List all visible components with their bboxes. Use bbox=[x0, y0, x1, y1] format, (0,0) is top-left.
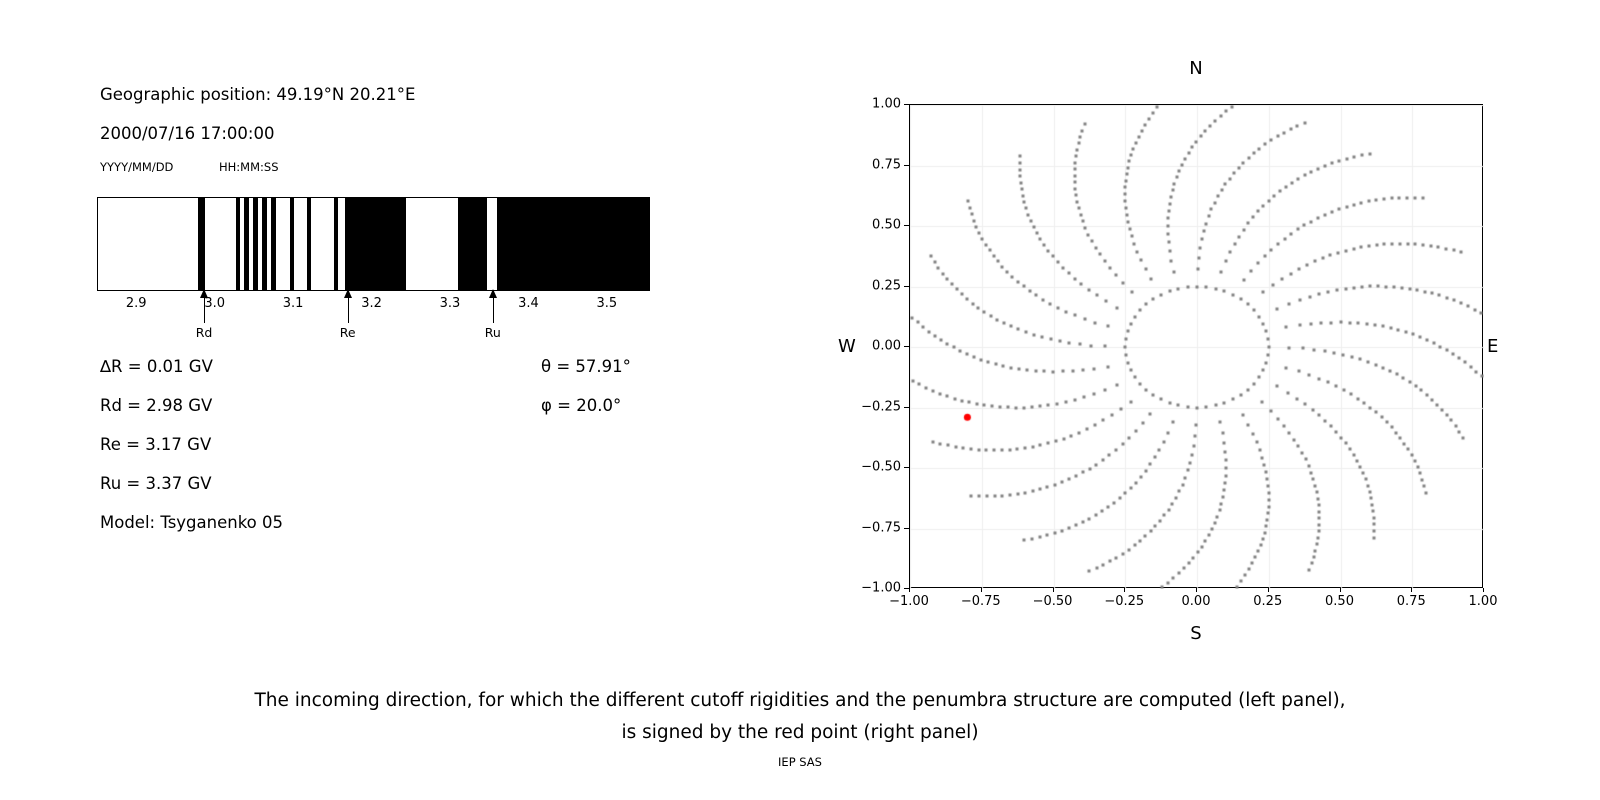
y-axis-tick-label: −0.25 bbox=[855, 399, 901, 414]
x-axis-tick-mark bbox=[909, 588, 910, 592]
compass-north-label: N bbox=[1189, 58, 1202, 79]
x-axis-tick-label: 0.50 bbox=[1325, 594, 1354, 609]
y-axis-tick-label: −0.75 bbox=[855, 520, 901, 535]
x-axis-tick-mark bbox=[1483, 588, 1484, 592]
scatter-canvas bbox=[910, 105, 1484, 589]
x-axis-tick-label: −0.75 bbox=[961, 594, 1001, 609]
y-axis-tick-mark bbox=[904, 165, 909, 166]
x-axis-tick-mark bbox=[1053, 588, 1054, 592]
y-axis-tick-label: 0.75 bbox=[855, 157, 901, 172]
x-axis-tick-label: −0.50 bbox=[1033, 594, 1073, 609]
y-axis-tick-label: 1.00 bbox=[855, 97, 901, 112]
y-axis-tick-label: 0.25 bbox=[855, 278, 901, 293]
x-axis-tick-mark bbox=[1196, 588, 1197, 592]
y-axis-tick-mark bbox=[904, 286, 909, 287]
x-axis-tick-mark bbox=[1411, 588, 1412, 592]
x-axis-tick-label: 0.00 bbox=[1182, 594, 1211, 609]
y-axis-tick-label: 0.00 bbox=[855, 339, 901, 354]
y-axis-tick-label: 0.50 bbox=[855, 218, 901, 233]
y-axis-tick-mark bbox=[904, 407, 909, 408]
x-axis-tick-label: 0.25 bbox=[1253, 594, 1282, 609]
x-axis-tick-mark bbox=[981, 588, 982, 592]
caption-line-2: is signed by the red point (right panel) bbox=[0, 717, 1600, 749]
y-axis-tick-mark bbox=[904, 588, 909, 589]
y-axis-tick-label: −0.50 bbox=[855, 460, 901, 475]
right-panel: N S W E −1.00−0.75−0.50−0.250.000.250.50… bbox=[0, 0, 1600, 660]
y-axis-tick-mark bbox=[904, 225, 909, 226]
x-axis-tick-mark bbox=[1268, 588, 1269, 592]
y-axis-tick-mark bbox=[904, 467, 909, 468]
x-axis-tick-label: −1.00 bbox=[889, 594, 929, 609]
figure-caption: The incoming direction, for which the di… bbox=[0, 685, 1600, 749]
compass-south-label: S bbox=[1190, 623, 1201, 644]
compass-west-label: W bbox=[838, 336, 856, 357]
x-axis-tick-label: 0.75 bbox=[1397, 594, 1426, 609]
compass-east-label: E bbox=[1487, 336, 1498, 357]
x-axis-tick-mark bbox=[1124, 588, 1125, 592]
direction-scatter-plot bbox=[909, 104, 1483, 588]
y-axis-tick-mark bbox=[904, 528, 909, 529]
y-axis-tick-mark bbox=[904, 346, 909, 347]
y-axis-tick-mark bbox=[904, 104, 909, 105]
x-axis-tick-label: 1.00 bbox=[1469, 594, 1498, 609]
x-axis-tick-mark bbox=[1340, 588, 1341, 592]
caption-line-1: The incoming direction, for which the di… bbox=[0, 685, 1600, 717]
footer-credit: IEP SAS bbox=[0, 755, 1600, 769]
y-axis-tick-label: −1.00 bbox=[855, 581, 901, 596]
x-axis-tick-label: −0.25 bbox=[1104, 594, 1144, 609]
